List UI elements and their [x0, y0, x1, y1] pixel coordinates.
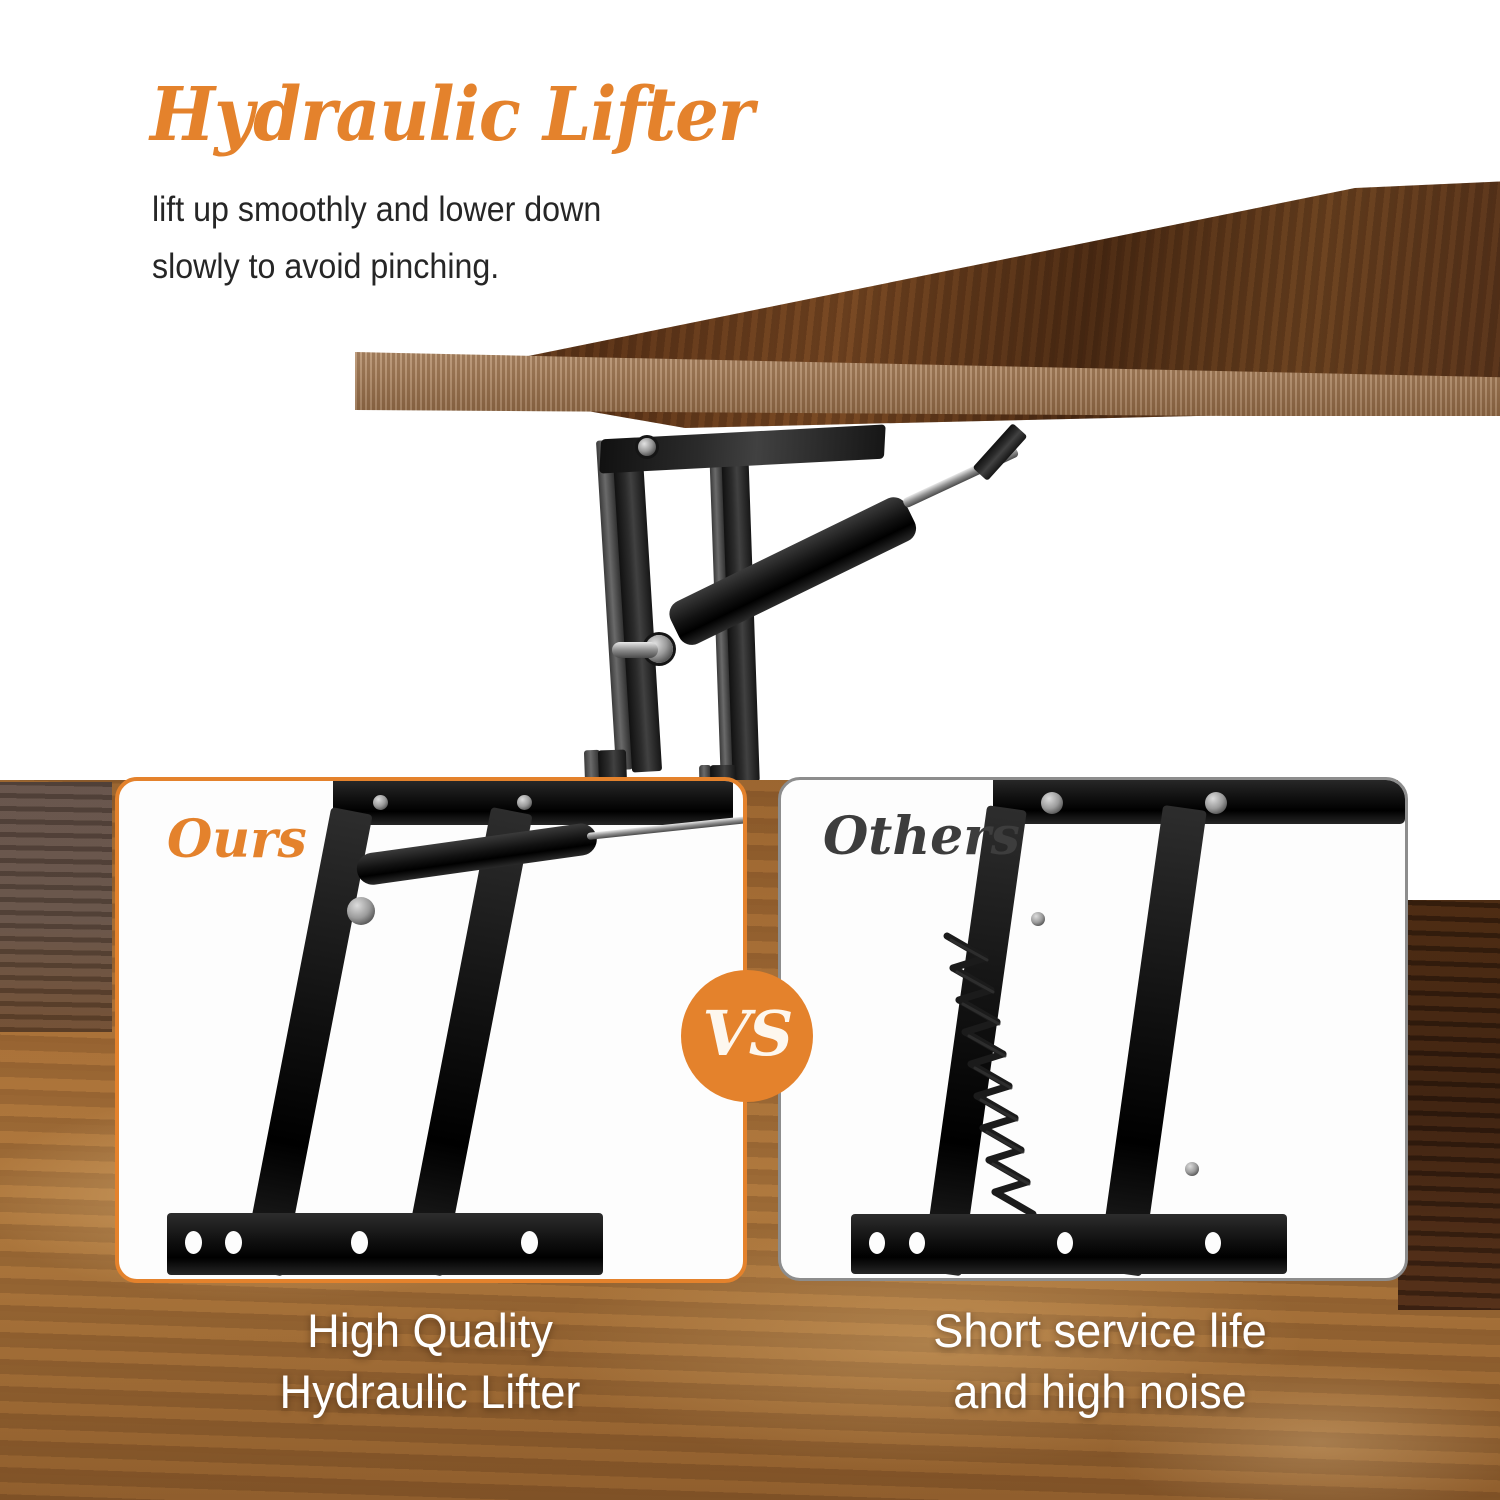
others-base-hole-1 [869, 1232, 885, 1254]
others-top-rail-screw-2 [1205, 792, 1227, 814]
others-base-hole-4 [1205, 1232, 1221, 1254]
vs-badge-label: VS [703, 1003, 792, 1065]
hero-product-photo [300, 150, 1500, 830]
ours-arm-pivot-bolt [347, 897, 375, 925]
others-base-hole-3 [1057, 1232, 1073, 1254]
white-gap-right [1398, 780, 1500, 902]
ours-top-rail-screw-2 [517, 795, 532, 810]
ours-base-hole-4 [521, 1231, 538, 1254]
hydraulic-strut-cylinder [665, 493, 921, 650]
card-label-ours: Ours [167, 809, 307, 870]
comparison-card-others: Others [778, 777, 1408, 1281]
ours-base-hole-1 [185, 1231, 202, 1254]
others-top-rail-screw-1 [1041, 792, 1063, 814]
ours-top-rail [333, 777, 733, 825]
others-coil-spring [931, 928, 1251, 1248]
others-base-hole-2 [909, 1232, 925, 1254]
ours-arm-outer [242, 807, 373, 1276]
ours-top-rail-screw-1 [373, 795, 388, 810]
caption-others: Short service life and high noise [793, 1300, 1407, 1422]
strut-upper-mount-bracket [972, 423, 1027, 481]
wood-dark-band-right [1398, 900, 1500, 1310]
ours-base-hole-2 [225, 1231, 242, 1254]
page-title: Hydraulic Lifter [150, 78, 753, 152]
ours-base-hole-3 [351, 1231, 368, 1254]
strut-lower-pin [612, 642, 658, 658]
others-arm-slot-pin-upper [1031, 912, 1045, 926]
card-label-others: Others [823, 806, 1020, 867]
frame-bolt-top [638, 438, 656, 456]
wood-dark-band-left [0, 782, 112, 1032]
vs-badge: VS [681, 970, 813, 1102]
comparison-card-ours: Ours [115, 777, 747, 1283]
caption-ours: High Quality Hydraulic Lifter [123, 1300, 737, 1422]
product-infographic: Hydraulic Lifter lift up smoothly and lo… [0, 0, 1500, 1500]
